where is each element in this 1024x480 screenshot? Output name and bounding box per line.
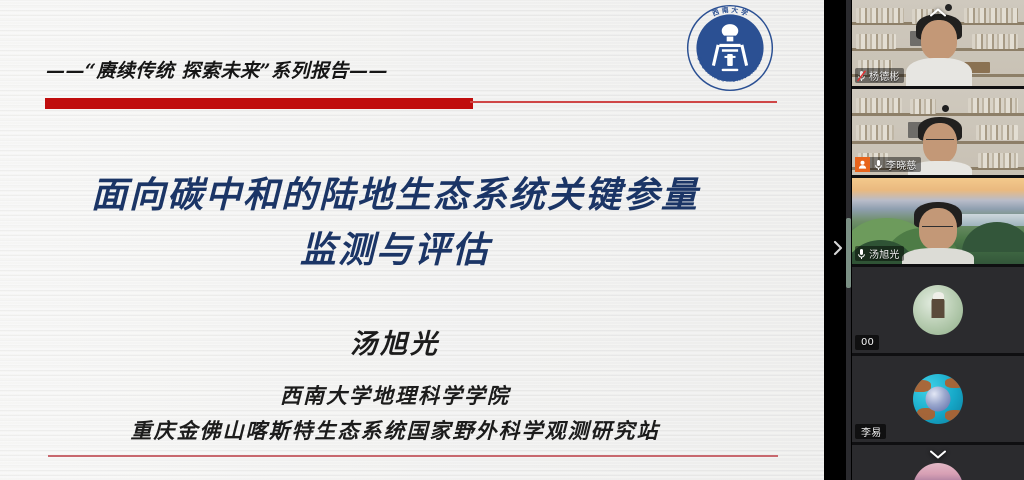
mic-icon <box>872 157 885 172</box>
participant-nameplate: 汤旭光 <box>855 246 904 261</box>
participant-tile[interactable]: 李易 <box>852 356 1024 445</box>
panel-divider <box>824 0 852 480</box>
mic-muted-icon <box>855 68 868 83</box>
participant-filmstrip[interactable]: 杨德彬 <box>852 0 1024 480</box>
avatar <box>913 463 963 480</box>
participant-name: 汤旭光 <box>868 246 900 261</box>
participant-tile[interactable]: 李晓慈 <box>852 89 1024 178</box>
title-line-2: 监测与评估 <box>0 223 790 278</box>
participant-name: 李易 <box>860 424 881 439</box>
participant-name: 李晓慈 <box>885 157 917 172</box>
participant-nameplate: 李易 <box>855 424 886 439</box>
mic-icon <box>855 246 868 261</box>
meeting-window: ——“赓续传统 探索未来”系列报告—— <box>0 0 1024 480</box>
affiliation-line-1: 西南大学地理科学学院 <box>0 378 790 413</box>
presentation-slide: ——“赓续传统 探索未来”系列报告—— <box>0 0 824 480</box>
host-person-icon <box>855 157 870 172</box>
participant-nameplate: 李晓慈 <box>855 157 921 172</box>
chevron-down-icon[interactable] <box>925 446 951 462</box>
speaker-name: 汤旭光 <box>0 322 790 361</box>
participant-nameplate: 00 <box>855 335 879 350</box>
red-rule-bottom <box>48 455 778 457</box>
chevron-right-icon[interactable] <box>830 236 845 260</box>
chevron-up-icon[interactable] <box>925 4 951 20</box>
slide-title: 面向碳中和的陆地生态系统关键参量 监测与评估 <box>0 168 790 277</box>
participant-tile[interactable]: 00 <box>852 267 1024 356</box>
slide-speaker-block: 汤旭光 西南大学地理科学学院 重庆金佛山喀斯特生态系统国家野外科学观测研究站 <box>0 322 790 449</box>
screen-share-stage[interactable]: ——“赓续传统 探索未来”系列报告—— <box>0 0 824 480</box>
avatar <box>913 374 963 424</box>
title-line-1: 面向碳中和的陆地生态系统关键参量 <box>0 168 790 223</box>
participant-name: 00 <box>860 337 874 348</box>
avatar <box>913 285 963 335</box>
filmstrip-scrollbar-thumb[interactable] <box>846 218 851 288</box>
red-rule-thick <box>45 98 473 109</box>
southwest-university-logo: 西 南 大 学 SOUTHWEST UNIVERSITY <box>684 2 776 94</box>
slide-kicker: ——“赓续传统 探索未来”系列报告—— <box>46 56 388 83</box>
participant-nameplate: 杨德彬 <box>855 68 904 83</box>
affiliation-line-2: 重庆金佛山喀斯特生态系统国家野外科学观测研究站 <box>0 413 790 448</box>
participant-name: 杨德彬 <box>868 68 900 83</box>
participant-tile-active-speaker[interactable]: 汤旭光 <box>852 178 1024 267</box>
red-rule-thin <box>470 101 777 103</box>
